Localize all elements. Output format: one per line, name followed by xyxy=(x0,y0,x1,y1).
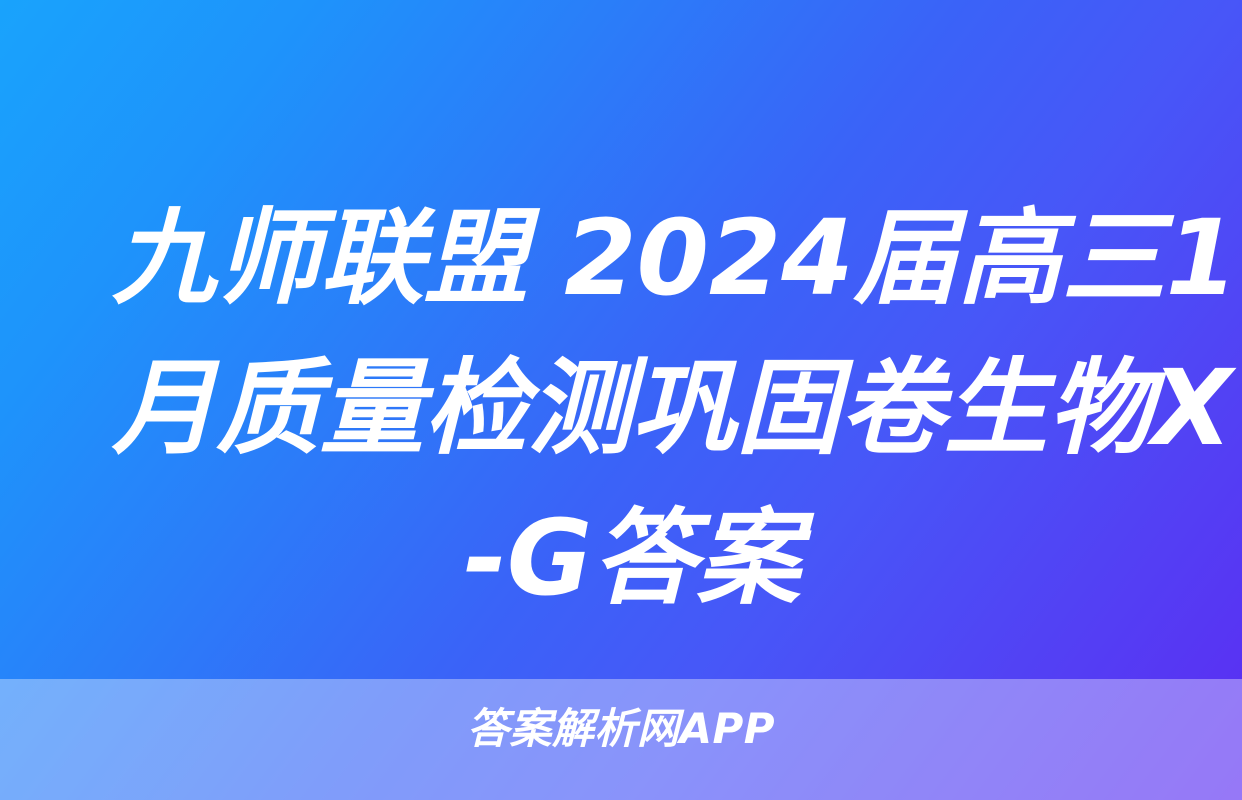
poster-title: 九师联盟 2024届高三1 月质量检测巩固卷生物X -G答案 xyxy=(112,183,1152,633)
title-line-2: 月质量检测巩固卷生物X xyxy=(112,333,1152,483)
answer-poster-card: 九师联盟 2024届高三1 月质量检测巩固卷生物X -G答案 答案解析网APP xyxy=(0,0,1242,800)
title-line-3: -G答案 xyxy=(112,483,1152,633)
app-watermark: 答案解析网APP xyxy=(0,703,1242,755)
title-line-1: 九师联盟 2024届高三1 xyxy=(112,183,1152,333)
